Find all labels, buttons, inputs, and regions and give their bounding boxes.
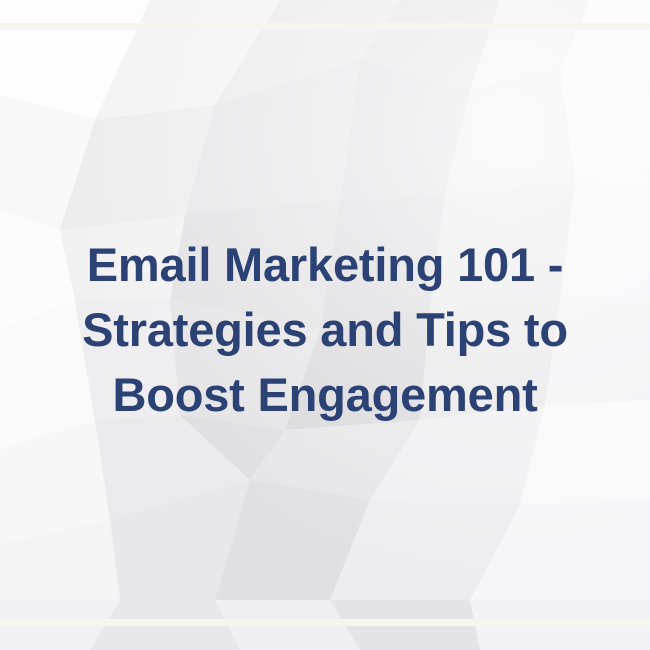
slide-canvas: Email Marketing 101 - Strategies and Tip…	[0, 0, 650, 650]
title-block: Email Marketing 101 - Strategies and Tip…	[0, 0, 650, 650]
page-title: Email Marketing 101 - Strategies and Tip…	[35, 232, 615, 427]
